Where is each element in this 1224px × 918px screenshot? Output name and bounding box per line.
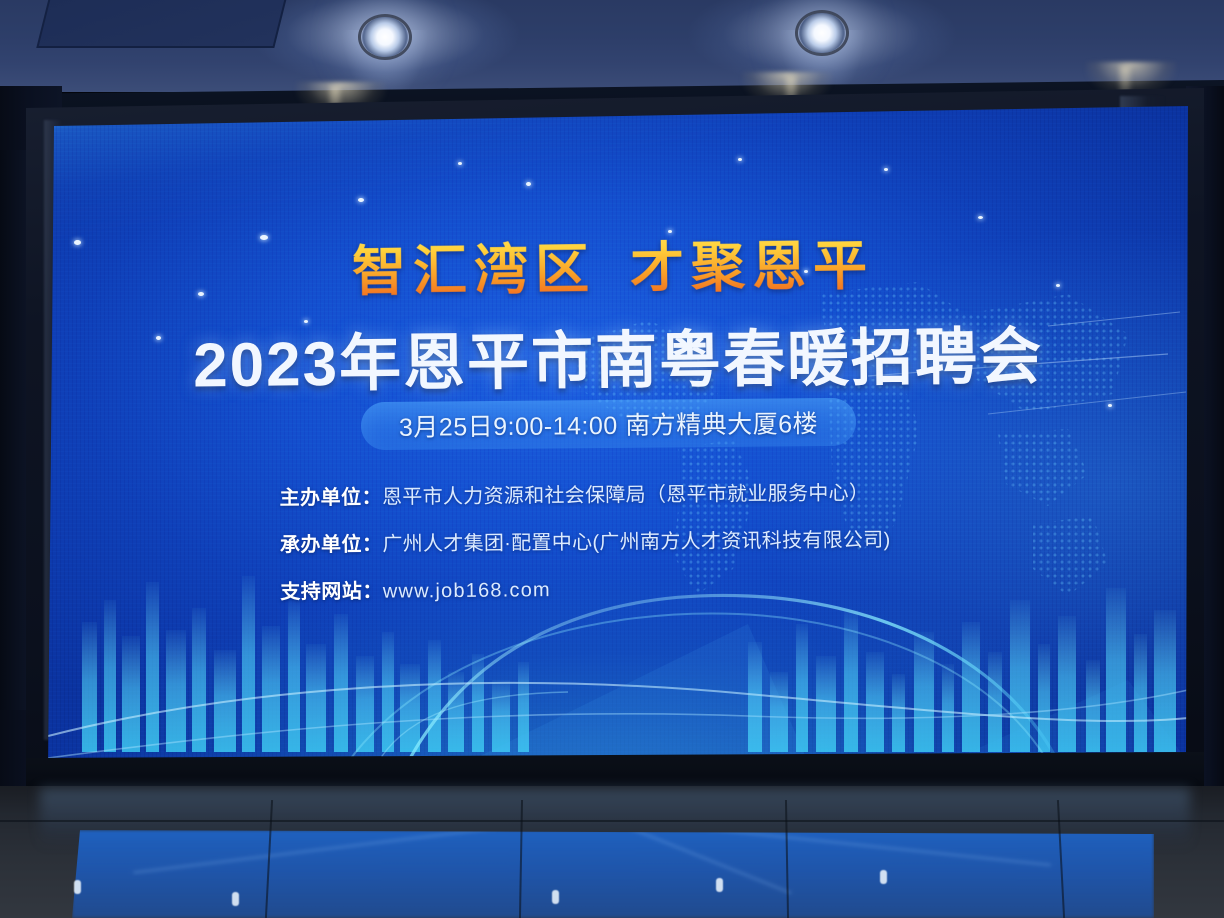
info-value-website: www.job168.com <box>383 579 551 603</box>
info-line: 主办单位： 恩平市人力资源和社会保障局（恩平市就业服务中心） <box>279 475 1079 511</box>
slogan-left: 智汇湾区 <box>352 236 597 303</box>
poster-datetime-badge: 3月25日9:00-14:00 南方精典大厦6楼 <box>361 398 856 450</box>
downlight-left <box>362 17 408 57</box>
floor-light-reflection <box>232 892 239 906</box>
poster-content: 智汇湾区才聚恩平 2023年恩平市南粤春暖招聘会 3月25日9:00-14:00… <box>48 104 1188 764</box>
badge-text: 3月25日9:00-14:00 南方精典大厦6楼 <box>399 404 818 444</box>
poster-info-block: 主办单位： 恩平市人力资源和社会保障局（恩平市就业服务中心） 承办单位： 广州人… <box>279 475 1080 623</box>
ceiling <box>0 0 1224 92</box>
downlight-right <box>799 13 845 53</box>
led-screen: 智汇湾区才聚恩平 2023年恩平市南粤春暖招聘会 3月25日9:00-14:00… <box>48 104 1188 764</box>
info-line: 支持网站： www.job168.com <box>280 569 1080 605</box>
floor-grout-line <box>0 820 1224 822</box>
floor-light-reflection <box>716 878 723 892</box>
ceiling-panel <box>36 0 293 48</box>
slogan-right: 才聚恩平 <box>630 233 875 300</box>
info-value: 恩平市人力资源和社会保障局（恩平市就业服务中心） <box>382 476 869 509</box>
info-label: 主办单位： <box>279 481 382 511</box>
info-label: 承办单位： <box>280 528 383 558</box>
info-label: 支持网站： <box>280 575 383 605</box>
floor-light-reflection <box>880 870 887 884</box>
poster-slogan: 智汇湾区才聚恩平 <box>303 220 924 307</box>
poster-main-title: 2023年恩平市南粤春暖招聘会 <box>148 305 1089 405</box>
info-line: 承办单位： 广州人才集团·配置中心(广州南方人才资讯科技有限公司) <box>280 522 1080 558</box>
floor-light-reflection <box>74 880 81 894</box>
floor-light-reflection <box>552 890 559 904</box>
room-scene: 智汇湾区才聚恩平 2023年恩平市南粤春暖招聘会 3月25日9:00-14:00… <box>0 0 1224 918</box>
info-value: 广州人才集团·配置中心(广州南方人才资讯科技有限公司) <box>382 523 890 556</box>
wall-left-strip <box>0 150 26 710</box>
